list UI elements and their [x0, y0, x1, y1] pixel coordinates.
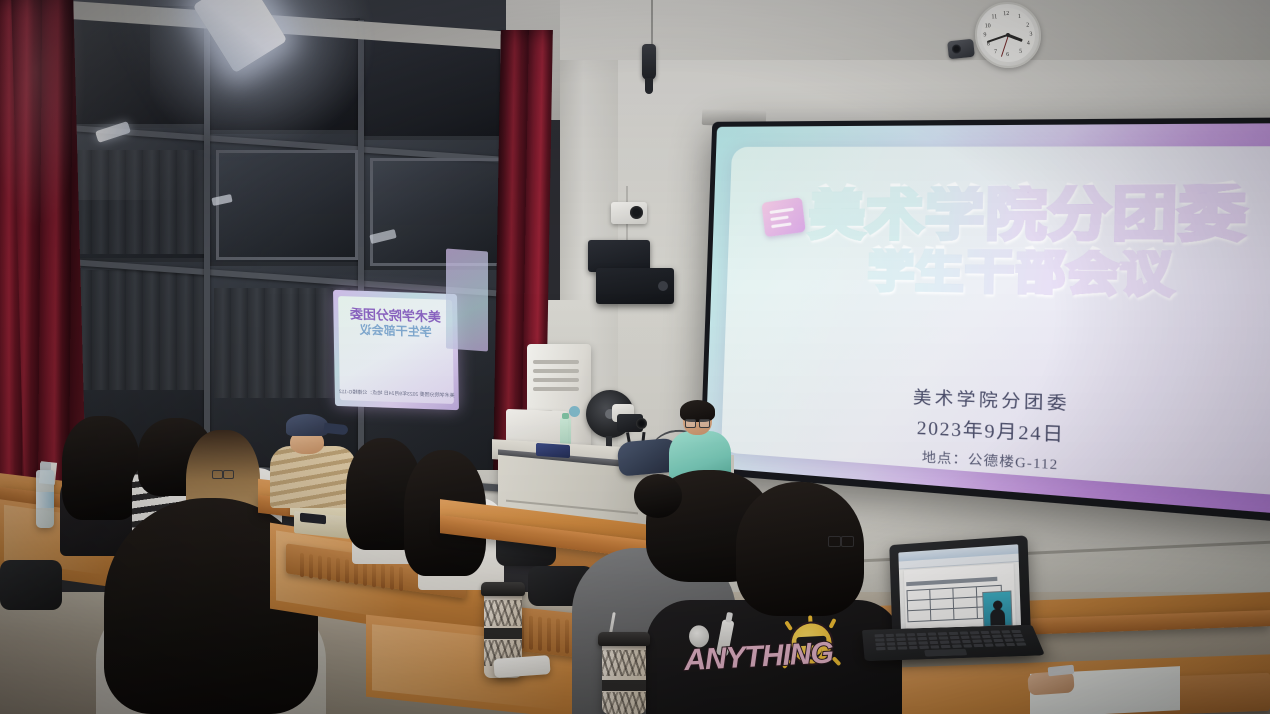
classroom-photo: 美术学院分团委 学生干部会议 美术学院分团委 2023年9月24日 地点：公德楼… — [0, 0, 1270, 714]
student-blue-cap-torso — [270, 446, 356, 508]
coffee-cup-right — [602, 640, 646, 714]
hair-bun — [634, 474, 682, 518]
tshirt-graphic: ANYTHING — [674, 615, 853, 690]
student-black-tshirt-hair — [736, 482, 864, 616]
cap-icon — [286, 414, 328, 436]
clock-numeral: 5 — [1015, 49, 1025, 55]
screen-reflection-in-window: 美术学院分团委 学生干部会议 美术学院分团委 2023年9月24日 地点：公德楼… — [333, 290, 459, 410]
clock-numeral: 3 — [1026, 32, 1036, 38]
tshirt-word: ANYTHING — [683, 636, 833, 678]
reflection-title: 美术学院分团委 学生干部会议 — [350, 306, 442, 340]
power-bank — [493, 655, 550, 678]
clock-numeral: 4 — [1023, 41, 1033, 47]
glasses-icon — [212, 470, 234, 478]
clock-numeral: 6 — [1003, 52, 1013, 58]
wall-sensor-icon — [947, 39, 975, 60]
laptop-trackpad[interactable] — [924, 649, 967, 657]
clock-numeral: 9 — [980, 32, 990, 38]
coffee-cup-lid — [598, 632, 650, 646]
clock-numeral: 7 — [990, 49, 1000, 55]
slide-title-line-1: 美术学院分团委 — [787, 183, 1270, 246]
laptop-keyboard[interactable] — [862, 625, 1045, 661]
slide-title: 美术学院分团委 学生干部会议 — [786, 183, 1270, 302]
slide-title-line-2: 学生干部会议 — [786, 248, 1270, 303]
clock-numeral: 10 — [983, 23, 993, 29]
clock-center-pin — [1006, 33, 1010, 37]
curtain-highlight — [0, 0, 90, 240]
clock-numeral: 2 — [1023, 23, 1033, 29]
screen-reflection-secondary — [446, 249, 488, 352]
camera-lens-icon — [636, 418, 647, 429]
clock-numeral: 11 — [989, 14, 999, 20]
projected-slide: 美术学院分团委 学生干部会议 美术学院分团委 2023年9月24日 地点：公德楼… — [705, 123, 1270, 516]
bottle-label — [36, 492, 54, 508]
laptop-id-photo — [982, 590, 1012, 627]
slide-subtitle-block: 美术学院分团委 2023年9月24日 地点：公德楼G-112 — [722, 375, 1270, 486]
glasses-icon — [685, 419, 710, 426]
clock-numeral: 1 — [1014, 14, 1024, 20]
microphone-tip — [645, 78, 653, 94]
clock-numeral: 12 — [1001, 11, 1011, 17]
wall-camera-icon — [611, 202, 647, 224]
hanging-microphone-icon — [642, 44, 656, 80]
projector-screen: 美术学院分团委 学生干部会议 美术学院分团委 2023年9月24日 地点：公德楼… — [700, 117, 1270, 525]
glasses-icon — [828, 536, 854, 546]
podium-cloth — [536, 443, 570, 458]
microphone-cable — [651, 0, 653, 48]
coffee-cup-lid — [481, 582, 525, 596]
av-equipment-box — [596, 268, 674, 304]
slide-card: 美术学院分团委 学生干部会议 美术学院分团委 2023年9月24日 地点：公德楼… — [721, 146, 1270, 496]
backpack — [0, 560, 62, 610]
student-dark-hair-1 — [62, 416, 140, 520]
